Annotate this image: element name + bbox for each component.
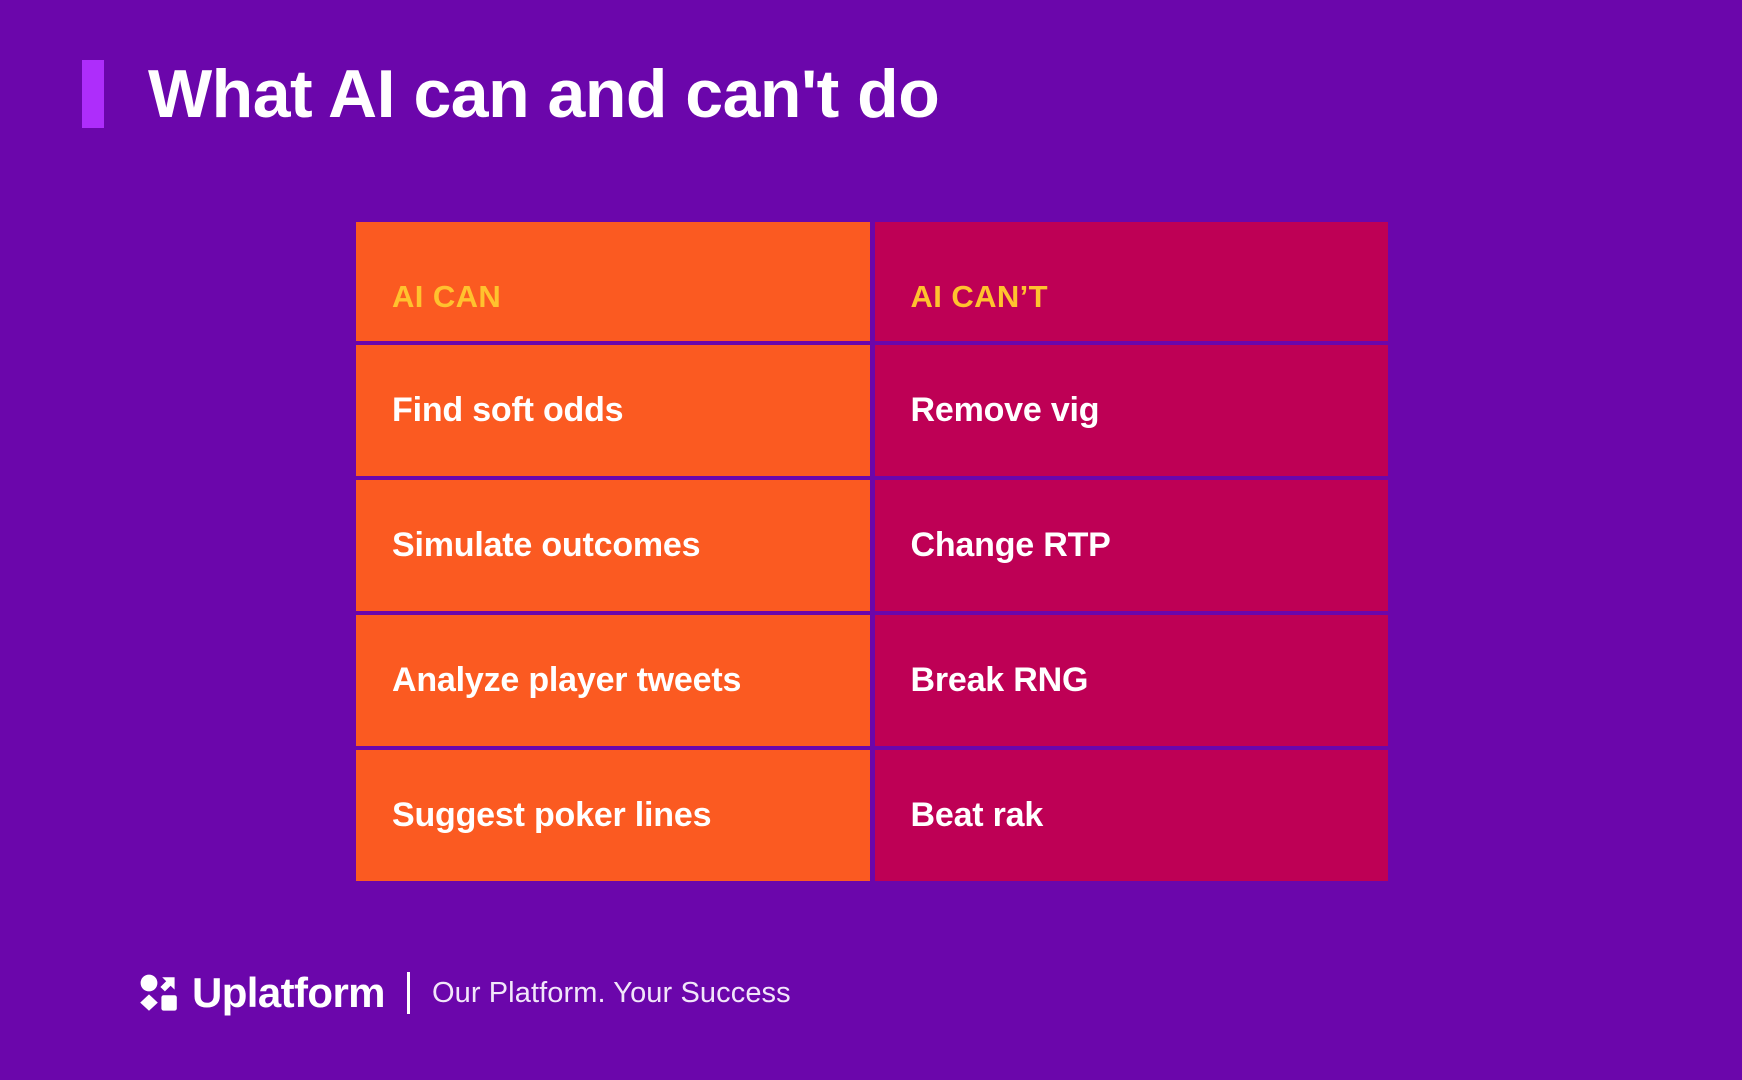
table-row: Suggest poker lines <box>356 750 870 881</box>
column-header-can: AI CAN <box>356 222 870 341</box>
slide-root: { "slide": { "background_color": "#6B06A… <box>0 0 1742 1080</box>
footer: Uplatform Our Platform. Your Success <box>140 972 791 1014</box>
page-title: What AI can and can't do <box>82 48 939 140</box>
table-row: Find soft odds <box>356 345 870 476</box>
title-accent-bar <box>82 60 104 128</box>
comparison-table: AI CAN Find soft odds Simulate outcomes … <box>356 222 1388 881</box>
uplatform-logo-icon <box>140 974 178 1012</box>
column-header-cant: AI CAN’T <box>875 222 1389 341</box>
table-row: Remove vig <box>875 345 1389 476</box>
table-row: Analyze player tweets <box>356 615 870 746</box>
footer-divider <box>407 972 410 1014</box>
table-column-cant: AI CAN’T Remove vig Change RTP Break RNG… <box>875 222 1389 881</box>
footer-tagline: Our Platform. Your Success <box>432 972 791 1014</box>
table-row: Change RTP <box>875 480 1389 611</box>
brand-name: Uplatform <box>192 972 385 1014</box>
table-column-can: AI CAN Find soft odds Simulate outcomes … <box>356 222 870 881</box>
table-row: Simulate outcomes <box>356 480 870 611</box>
table-row: Break RNG <box>875 615 1389 746</box>
title-text: What AI can and can't do <box>148 48 939 140</box>
table-row: Beat rak <box>875 750 1389 881</box>
